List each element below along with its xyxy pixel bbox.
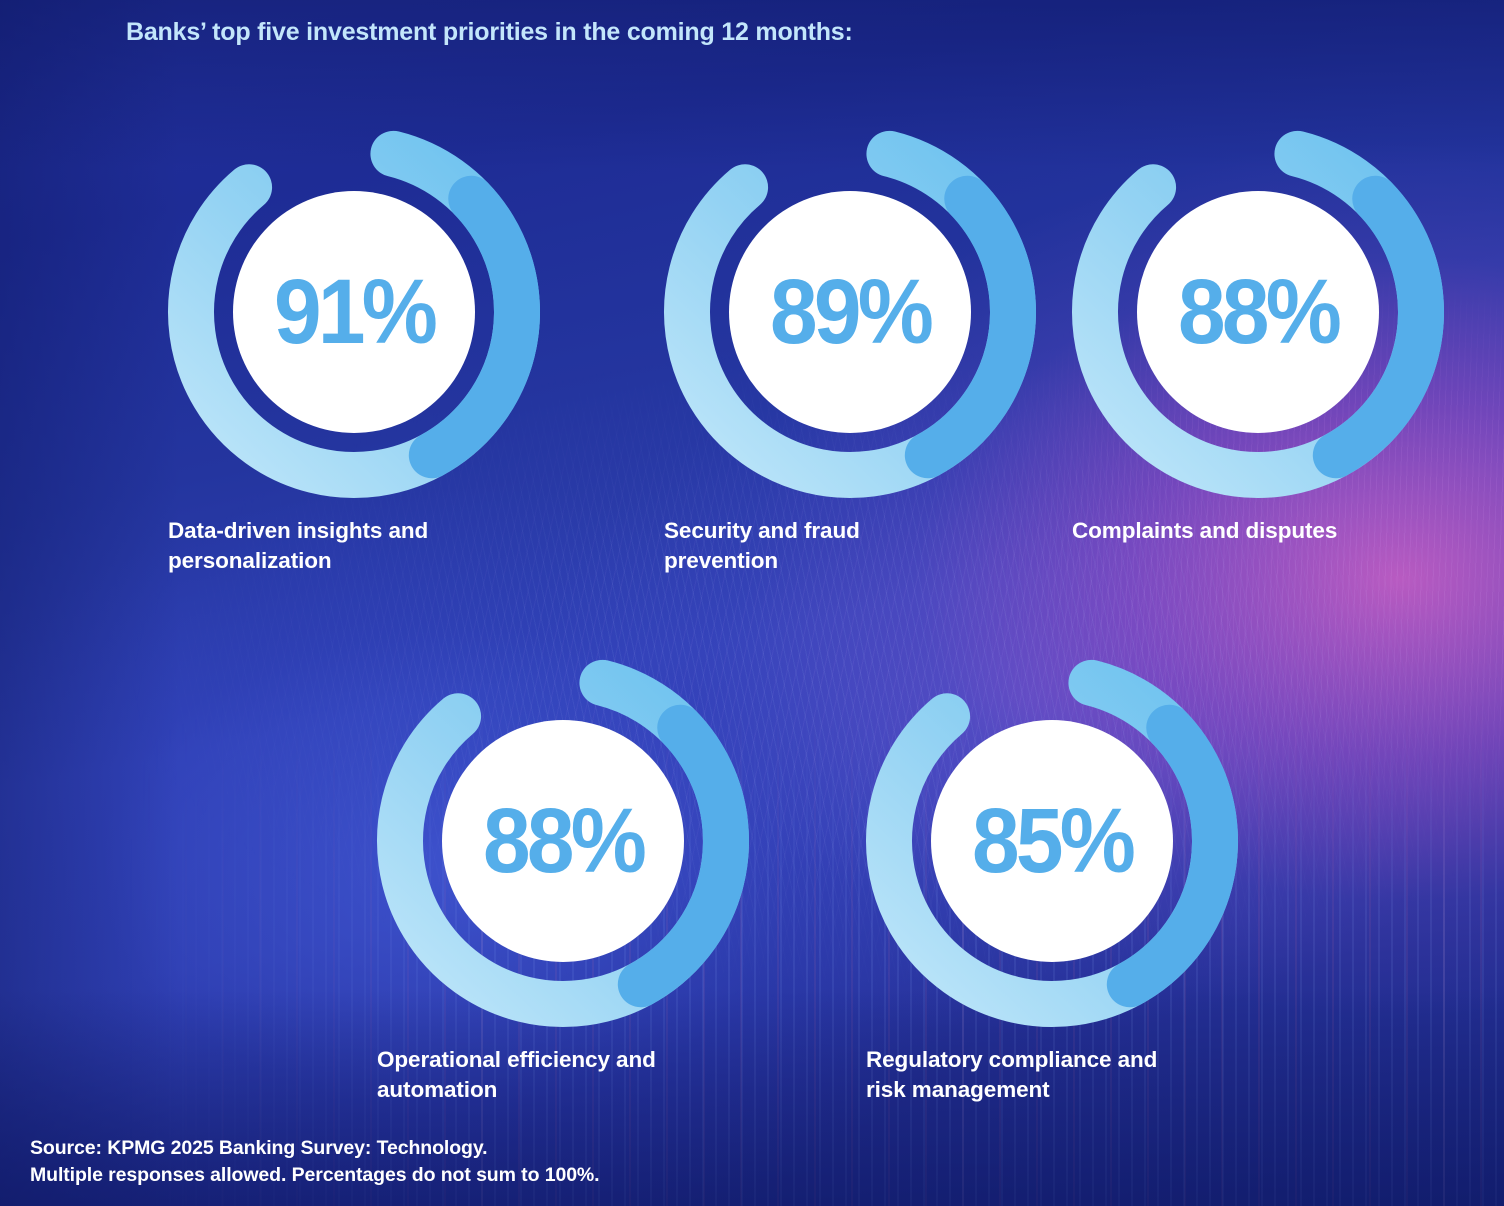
donut-gauge-3: 88% (1072, 126, 1444, 498)
metric-label-2-line2: prevention (664, 546, 1014, 576)
donut-gauge-4: 88% (377, 655, 749, 1027)
metric-card-5: 85% Regulatory compliance and risk manag… (866, 655, 1266, 1106)
donut-gauge-1: 91% (168, 126, 540, 498)
percentage-value-2: 89% (770, 266, 930, 358)
metric-label-2-line1: Security and fraud (664, 516, 1014, 546)
metric-label-1: Data-driven insights and personalization (168, 516, 518, 577)
metric-label-1-line1: Data-driven insights and (168, 516, 518, 546)
metric-card-3: 88% Complaints and disputes (1072, 126, 1472, 546)
source-line-1: Source: KPMG 2025 Banking Survey: Techno… (30, 1135, 600, 1163)
infographic-canvas: Banks’ top five investment priorities in… (0, 0, 1504, 1206)
percentage-value-4: 88% (483, 795, 643, 887)
donut-center-disc-3: 88% (1137, 191, 1379, 433)
metric-label-3-line1: Complaints and disputes (1072, 516, 1422, 546)
source-note: Source: KPMG 2025 Banking Survey: Techno… (30, 1135, 600, 1190)
metric-label-3: Complaints and disputes (1072, 516, 1422, 546)
metric-card-4: 88% Operational efficiency and automatio… (377, 655, 777, 1106)
metric-label-4: Operational efficiency and automation (377, 1045, 727, 1106)
source-line-2: Multiple responses allowed. Percentages … (30, 1162, 600, 1190)
donut-center-disc-4: 88% (442, 720, 684, 962)
metric-label-2: Security and fraud prevention (664, 516, 1014, 577)
percentage-value-1: 91% (274, 266, 434, 358)
donut-center-disc-1: 91% (233, 191, 475, 433)
metric-label-1-line2: personalization (168, 546, 518, 576)
metric-label-5-line2: risk management (866, 1075, 1216, 1105)
percentage-value-3: 88% (1178, 266, 1338, 358)
percentage-value-5: 85% (972, 795, 1132, 887)
donut-gauge-5: 85% (866, 655, 1238, 1027)
metric-label-4-line2: automation (377, 1075, 727, 1105)
donut-center-disc-5: 85% (931, 720, 1173, 962)
donut-center-disc-2: 89% (729, 191, 971, 433)
donut-gauge-2: 89% (664, 126, 1036, 498)
page-title: Banks’ top five investment priorities in… (126, 18, 853, 47)
metric-label-5: Regulatory compliance and risk managemen… (866, 1045, 1216, 1106)
metric-card-1: 91% Data-driven insights and personaliza… (168, 126, 568, 577)
metric-label-4-line1: Operational efficiency and (377, 1045, 727, 1075)
metric-card-2: 89% Security and fraud prevention (664, 126, 1064, 577)
metric-label-5-line1: Regulatory compliance and (866, 1045, 1216, 1075)
